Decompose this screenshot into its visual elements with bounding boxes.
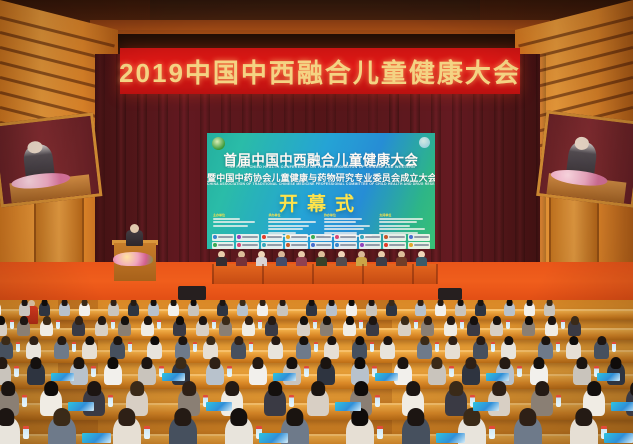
water-bottle xyxy=(157,320,161,329)
audience-member xyxy=(118,320,131,336)
sponsor-logo-mark xyxy=(237,243,241,247)
audience-member xyxy=(428,362,446,385)
water-bottle xyxy=(435,342,439,352)
water-bottle xyxy=(56,320,60,329)
audience-member-head xyxy=(234,336,243,346)
sponsor-logo-text xyxy=(242,244,257,246)
audience-member-head xyxy=(130,381,144,396)
audience-member xyxy=(475,302,486,316)
credit-column: 承办单位 xyxy=(268,213,318,233)
credit-line xyxy=(268,228,302,230)
audience-member xyxy=(545,320,558,336)
audience-member-head xyxy=(431,357,442,369)
audience-member xyxy=(346,416,374,444)
audience-member-head xyxy=(524,316,532,324)
audience-member-head xyxy=(446,316,454,324)
audience-member xyxy=(490,320,503,336)
audience-member xyxy=(265,320,278,336)
sponsor-logo-mark xyxy=(409,235,413,239)
water-bottle xyxy=(489,426,495,439)
credit-heading: 协办单位 xyxy=(324,213,374,217)
panelist-body xyxy=(416,257,427,266)
sponsor-logo-mark xyxy=(286,243,290,247)
table-seam xyxy=(262,264,264,284)
credit-line xyxy=(379,228,424,230)
audience-member-head xyxy=(383,336,392,346)
credit-line xyxy=(379,221,416,223)
panel-table xyxy=(212,264,437,284)
water-bottle xyxy=(91,366,96,377)
audience-member xyxy=(573,362,591,385)
banner-text: 2019中国中西融合儿童健康大会 xyxy=(119,53,521,90)
audience-member-head xyxy=(504,336,513,346)
audience-member-head xyxy=(182,381,196,396)
audience-member xyxy=(128,302,139,316)
panelist-body xyxy=(296,257,307,266)
panelist xyxy=(216,251,227,265)
audience-member xyxy=(415,302,426,316)
audience-member-head xyxy=(368,316,376,324)
audience-member-head xyxy=(541,336,550,346)
sponsor-logo-mark xyxy=(286,235,290,239)
audience-member-head xyxy=(299,316,307,324)
credit-line xyxy=(268,221,315,223)
audience-member-head xyxy=(175,316,183,324)
audience-member xyxy=(231,340,246,359)
credit-line xyxy=(324,228,364,230)
right-projection-screen xyxy=(536,110,633,207)
conference-booklet xyxy=(162,373,185,381)
audience-member-head xyxy=(345,316,353,324)
credit-line xyxy=(324,225,370,227)
audience-member xyxy=(225,416,253,444)
audience-member-head xyxy=(87,381,101,396)
audience-member xyxy=(473,340,488,359)
water-bottle xyxy=(460,320,464,329)
audience-member xyxy=(398,320,411,336)
sponsor-logo xyxy=(359,234,381,241)
audience-member-head xyxy=(0,316,5,324)
audience-member-head xyxy=(533,357,544,369)
credit-heading: 主办单位 xyxy=(213,213,263,217)
screen-credits: 主办单位承办单位协办单位支持单位 xyxy=(213,213,429,233)
audience-member-head xyxy=(526,300,533,306)
audience-member xyxy=(462,362,480,385)
audience-member-head xyxy=(221,316,229,324)
audience-member-head xyxy=(259,300,266,306)
sponsor-logo-text xyxy=(340,244,355,246)
credit-column: 主办单位 xyxy=(213,213,263,233)
sponsor-logo-mark xyxy=(311,235,315,239)
audience-member-head xyxy=(1,381,15,396)
screen-title-en: THE FIRST CHILD HEALTH CONFERENCE ON THE… xyxy=(207,165,435,169)
audience-member-head xyxy=(118,408,135,426)
audience-member-head xyxy=(492,316,500,324)
water-bottle xyxy=(449,366,454,377)
audience-member-head xyxy=(190,300,197,306)
table-seam xyxy=(412,264,414,284)
water-bottle xyxy=(14,366,19,377)
credit-line xyxy=(324,221,356,223)
water-bottle xyxy=(16,342,20,352)
audience-member-head xyxy=(21,300,28,306)
panelist xyxy=(416,251,427,265)
table-seam xyxy=(312,264,314,284)
conference-booklet xyxy=(335,402,361,411)
sponsor-logo xyxy=(359,242,381,249)
audience-member xyxy=(268,340,283,359)
audience-member-head xyxy=(61,300,68,306)
audience-member xyxy=(467,320,480,336)
sponsor-logo xyxy=(261,242,283,249)
audience-member xyxy=(95,320,108,336)
audience-member xyxy=(594,340,609,359)
sponsor-logo xyxy=(408,234,430,241)
credit-line xyxy=(324,218,362,220)
audience-member xyxy=(188,302,199,316)
sponsor-logo-text xyxy=(414,244,429,246)
audience-member-head xyxy=(587,381,601,396)
audience-member xyxy=(196,320,209,336)
panelist xyxy=(236,251,247,265)
stage-floor-monitor-left xyxy=(178,286,206,300)
water-bottle xyxy=(491,342,495,352)
conference-booklet xyxy=(486,373,509,381)
audience-member-head xyxy=(320,357,331,369)
audience-member xyxy=(386,302,397,316)
audience-member-head xyxy=(286,408,303,426)
audience-member xyxy=(257,302,268,316)
audience-member-head xyxy=(150,336,159,346)
credit-line xyxy=(268,225,309,227)
audience-member-head xyxy=(85,336,94,346)
sponsor-logo-mark xyxy=(335,243,339,247)
audience-member xyxy=(455,302,466,316)
audience-member-head xyxy=(400,316,408,324)
sponsor-logo xyxy=(408,242,430,249)
audience-member-head xyxy=(198,316,206,324)
audience-member xyxy=(568,320,581,336)
water-bottle xyxy=(23,426,29,439)
credit-line xyxy=(213,225,248,227)
audience-member-head xyxy=(519,408,536,426)
audience-member xyxy=(79,302,90,316)
conference-booklet xyxy=(206,402,232,411)
audience-member-head xyxy=(423,316,431,324)
panelist xyxy=(316,251,327,265)
sponsor-logo-mark xyxy=(237,235,241,239)
audience-member-head xyxy=(417,300,424,306)
audience-member-head xyxy=(174,408,191,426)
sponsor-logo xyxy=(236,234,258,241)
audience-member xyxy=(242,320,255,336)
audience-member xyxy=(522,320,535,336)
water-bottle xyxy=(359,320,363,329)
sponsor-logo-text xyxy=(267,244,282,246)
water-bottle xyxy=(22,395,27,407)
audience-member-head xyxy=(73,357,84,369)
sponsor-logo-mark xyxy=(384,235,388,239)
audience-member xyxy=(445,340,460,359)
audience-member-head xyxy=(457,300,464,306)
audience-member xyxy=(380,340,395,359)
water-bottle xyxy=(108,395,113,407)
conference-booklet xyxy=(68,402,94,411)
panelist xyxy=(256,251,267,265)
left-projection-screen xyxy=(0,112,102,207)
conference-booklet xyxy=(51,373,74,381)
sponsor-logo-text xyxy=(365,244,380,246)
sponsor-logo xyxy=(334,242,356,249)
credit-line xyxy=(379,218,423,220)
audience-member xyxy=(366,320,379,336)
conference-booklet xyxy=(82,433,111,443)
audience-member xyxy=(17,320,30,336)
water-bottle xyxy=(258,320,262,329)
panelist-body xyxy=(216,257,227,266)
sponsor-logo-text xyxy=(316,244,331,246)
water-bottle xyxy=(377,426,383,439)
sponsor-logo xyxy=(236,242,258,249)
audience-member-head xyxy=(267,316,275,324)
audience-member-head xyxy=(244,316,252,324)
sponsor-logo-text xyxy=(291,236,306,238)
water-bottle xyxy=(556,395,561,407)
conference-booklet xyxy=(604,433,633,443)
audience-member-head xyxy=(547,316,555,324)
audience-member xyxy=(307,388,329,416)
audience-member xyxy=(19,302,30,316)
audience-member-head xyxy=(44,381,58,396)
audience-member xyxy=(0,302,1,316)
sponsor-logo xyxy=(383,242,405,249)
audience-member-head xyxy=(57,336,66,346)
audience-member-head xyxy=(0,408,15,426)
sponsor-logo-mark xyxy=(360,243,364,247)
audience-member xyxy=(82,340,97,359)
audience-member xyxy=(108,302,119,316)
audience-member-head xyxy=(97,316,105,324)
sponsor-logo-row-1 xyxy=(211,233,431,241)
audience-member xyxy=(72,320,85,336)
lectern-flowers xyxy=(113,252,153,266)
water-bottle xyxy=(612,342,616,352)
credit-column: 协办单位 xyxy=(324,213,374,233)
audience-member-head xyxy=(535,381,549,396)
audience-member-head xyxy=(465,357,476,369)
audience-member-head xyxy=(388,300,395,306)
audience-member xyxy=(40,320,53,336)
table-seam xyxy=(436,264,438,284)
sponsor-logo xyxy=(212,242,234,249)
audience-member-head xyxy=(113,336,122,346)
audience-member-head xyxy=(175,357,186,369)
conference-logo-icon xyxy=(212,137,225,150)
audience-member xyxy=(113,416,141,444)
panelist xyxy=(296,251,307,265)
sponsor-logo xyxy=(310,234,332,241)
sponsor-logo-text xyxy=(316,236,331,238)
audience-member-head xyxy=(252,357,263,369)
conference-booklet xyxy=(611,402,633,411)
conference-booklet xyxy=(473,402,499,411)
audience-member xyxy=(168,302,179,316)
audience-member-head xyxy=(130,300,137,306)
audience-member xyxy=(104,362,122,385)
panelist xyxy=(376,251,387,265)
audience-member-head xyxy=(546,300,553,306)
audience-member-head xyxy=(368,300,375,306)
panelist-body xyxy=(376,257,387,266)
credit-line xyxy=(268,218,301,220)
audience-member-head xyxy=(597,336,606,346)
audience-member-head xyxy=(170,300,177,306)
credit-line xyxy=(213,221,255,223)
audience-member-head xyxy=(150,300,157,306)
credit-heading: 承办单位 xyxy=(268,213,318,217)
table-seam xyxy=(212,264,214,284)
water-bottle xyxy=(313,320,317,329)
audience-member-head xyxy=(492,381,506,396)
audience-member xyxy=(141,320,154,336)
audience-member-head xyxy=(576,357,587,369)
water-bottle xyxy=(227,366,232,377)
water-bottle xyxy=(375,395,380,407)
panelist xyxy=(276,251,287,265)
water-bottle xyxy=(506,320,510,329)
audience-member xyxy=(326,302,337,316)
conference-booklet xyxy=(597,373,620,381)
main-led-screen: 首届中国中西融合儿童健康大会 THE FIRST CHILD HEALTH CO… xyxy=(207,133,435,249)
audience-member-head xyxy=(209,357,220,369)
audience-member-head xyxy=(420,336,429,346)
audience-member-head xyxy=(570,316,578,324)
audience-member-head xyxy=(476,336,485,346)
sponsor-logo xyxy=(285,234,307,241)
audience-member-head xyxy=(42,316,50,324)
audience-member xyxy=(402,416,430,444)
audience-member-head xyxy=(311,381,325,396)
audience-member-head xyxy=(225,381,239,396)
audience-member-head xyxy=(30,357,41,369)
credit-line xyxy=(379,225,410,227)
water-bottle xyxy=(144,426,150,439)
audience-member-head xyxy=(271,336,280,346)
sponsor-logo-text xyxy=(365,236,380,238)
secondary-logo-icon xyxy=(419,137,430,148)
sponsor-logo-mark xyxy=(262,235,266,239)
sponsor-logo-mark xyxy=(262,243,266,247)
sponsor-logo xyxy=(212,234,234,241)
conference-booklet xyxy=(273,373,296,381)
ceiling-panel xyxy=(150,0,480,22)
water-bottle xyxy=(128,342,132,352)
audience-member xyxy=(524,302,535,316)
audience-member-head xyxy=(299,336,308,346)
audience-member-head xyxy=(141,357,152,369)
audience-member xyxy=(147,340,162,359)
sponsor-logo-row-2 xyxy=(211,241,431,249)
audience-member-head xyxy=(397,357,408,369)
audience-member-head xyxy=(178,336,187,346)
audience-member-head xyxy=(308,300,315,306)
audience-member-head xyxy=(19,316,27,324)
audience-member-head xyxy=(279,300,286,306)
screen-headline: 开幕式 xyxy=(207,189,435,216)
audience-member xyxy=(264,388,286,416)
sponsor-logo-mark xyxy=(213,243,217,247)
credit-heading: 支持单位 xyxy=(379,213,429,217)
audience-member-head xyxy=(437,300,444,306)
audience-member-head xyxy=(230,408,247,426)
sponsor-logo xyxy=(310,242,332,249)
conference-booklet xyxy=(259,433,288,443)
water-bottle xyxy=(289,395,294,407)
audience-member xyxy=(173,320,186,336)
audience-member xyxy=(169,416,197,444)
audience-member xyxy=(296,340,311,359)
audience-member xyxy=(417,340,432,359)
panelist xyxy=(356,251,367,265)
audience-member-head xyxy=(449,381,463,396)
sponsor-logo-text xyxy=(218,244,233,246)
sponsor-logo-mark xyxy=(360,235,364,239)
audience-member-head xyxy=(239,300,246,306)
sponsor-logo xyxy=(334,234,356,241)
audience-member-head xyxy=(348,300,355,306)
sponsor-logo xyxy=(383,234,405,241)
credit-column: 支持单位 xyxy=(379,213,429,233)
audience-member xyxy=(39,302,50,316)
audience-member-head xyxy=(286,357,297,369)
conference-hall-photo: 2019中国中西融合儿童健康大会 首届中国中西融合儿童健康大会 THE FIRS… xyxy=(0,0,633,444)
audience-member xyxy=(59,302,70,316)
sponsor-logo-text xyxy=(242,236,257,238)
audience-member-head xyxy=(355,336,364,346)
audience-member xyxy=(514,416,542,444)
audience-member-head xyxy=(499,357,510,369)
audience-member xyxy=(0,416,20,444)
audience-member xyxy=(148,302,159,316)
audience-seating xyxy=(0,300,633,444)
audience-member xyxy=(435,302,446,316)
audience-member-head xyxy=(74,316,82,324)
audience-member xyxy=(48,416,76,444)
sponsor-logo-text xyxy=(267,236,282,238)
sponsor-logo xyxy=(285,242,307,249)
conference-booklet xyxy=(436,433,465,443)
panelist-body xyxy=(276,257,287,266)
water-bottle xyxy=(10,320,14,329)
water-bottle xyxy=(517,366,522,377)
panelist xyxy=(336,251,347,265)
audience-member-head xyxy=(354,357,365,369)
audience-member xyxy=(366,302,377,316)
audience-member-head xyxy=(110,300,117,306)
audience-member-head xyxy=(1,336,10,346)
audience-member-head xyxy=(268,381,282,396)
audience-member-head xyxy=(322,316,330,324)
water-bottle xyxy=(370,342,374,352)
sponsor-logo-text xyxy=(291,244,306,246)
panelist-body xyxy=(336,257,347,266)
water-bottle xyxy=(249,342,253,352)
audience-member xyxy=(237,302,248,316)
audience-member-head xyxy=(219,300,226,306)
sponsor-logo-mark xyxy=(384,243,388,247)
presenter-head xyxy=(130,224,139,233)
audience-member-head xyxy=(575,408,592,426)
